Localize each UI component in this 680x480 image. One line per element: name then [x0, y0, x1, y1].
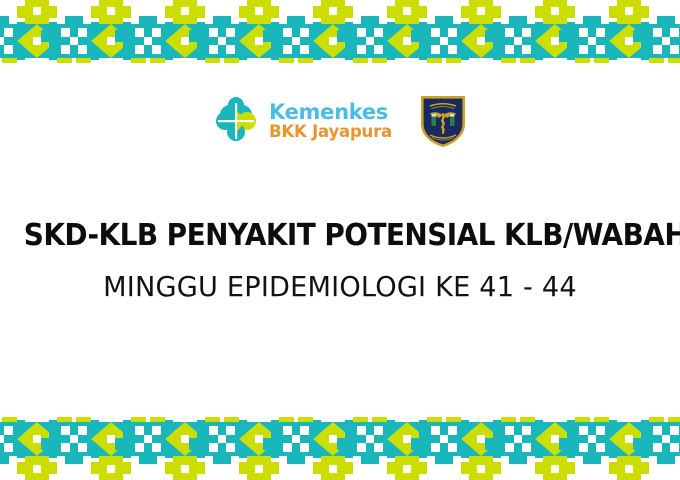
kemenkes-wordmark: Kemenkes BKK Jayapura: [269, 102, 392, 141]
kemenkes-wordmark-line2: BKK Jayapura: [269, 123, 392, 140]
kemenkes-wordmark-line1: Kemenkes: [269, 102, 392, 124]
title-slide: Kemenkes BKK Jayapura: [0, 0, 680, 480]
bottom-decorative-border: [0, 417, 680, 480]
logo-row: Kemenkes BKK Jayapura: [0, 86, 680, 156]
page-title: SKD-KLB PENYAKIT POTENSIAL KLB/WABAH: [24, 218, 656, 253]
kemenkes-flower-mark-icon: [212, 97, 260, 145]
top-decorative-border: [0, 0, 680, 63]
kementerian-kesehatan-shield-emblem-icon: [418, 93, 468, 149]
page-subtitle: MINGGU EPIDEMIOLOGI KE 41 - 44: [10, 270, 670, 303]
kemenkes-logo-lockup: Kemenkes BKK Jayapura: [212, 97, 392, 145]
title-block: SKD-KLB PENYAKIT POTENSIAL KLB/WABAH MIN…: [0, 218, 680, 303]
